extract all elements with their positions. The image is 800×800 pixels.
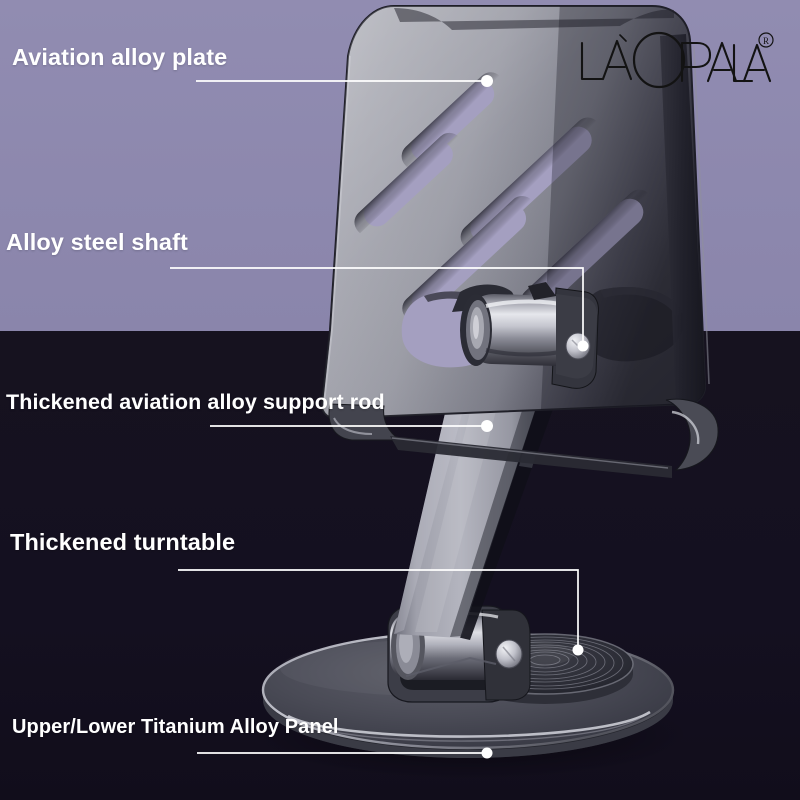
- leader-dot-support-rod: [481, 420, 493, 432]
- leader-dot-alloy-steel-shaft: [578, 341, 589, 352]
- leader-line-thickened-turntable: [178, 570, 578, 650]
- annotation-label-aviation-alloy-plate: Aviation alloy plate: [12, 44, 227, 71]
- annotation-label-alloy-steel-shaft: Alloy steel shaft: [6, 229, 188, 256]
- leader-dot-thickened-turntable: [573, 645, 584, 656]
- leader-line-alloy-steel-shaft: [170, 268, 583, 346]
- annotation-label-titanium-alloy-panel: Upper/Lower Titanium Alloy Panel: [12, 716, 339, 739]
- annotation-label-thickened-turntable: Thickened turntable: [10, 529, 235, 556]
- product-infographic: R Aviation alloy plate Alloy steel shaft…: [0, 0, 800, 800]
- leader-dot-titanium-alloy-panel: [482, 748, 493, 759]
- leader-dot-aviation-alloy-plate: [481, 75, 493, 87]
- annotation-label-support-rod: Thickened aviation alloy support rod: [6, 390, 385, 415]
